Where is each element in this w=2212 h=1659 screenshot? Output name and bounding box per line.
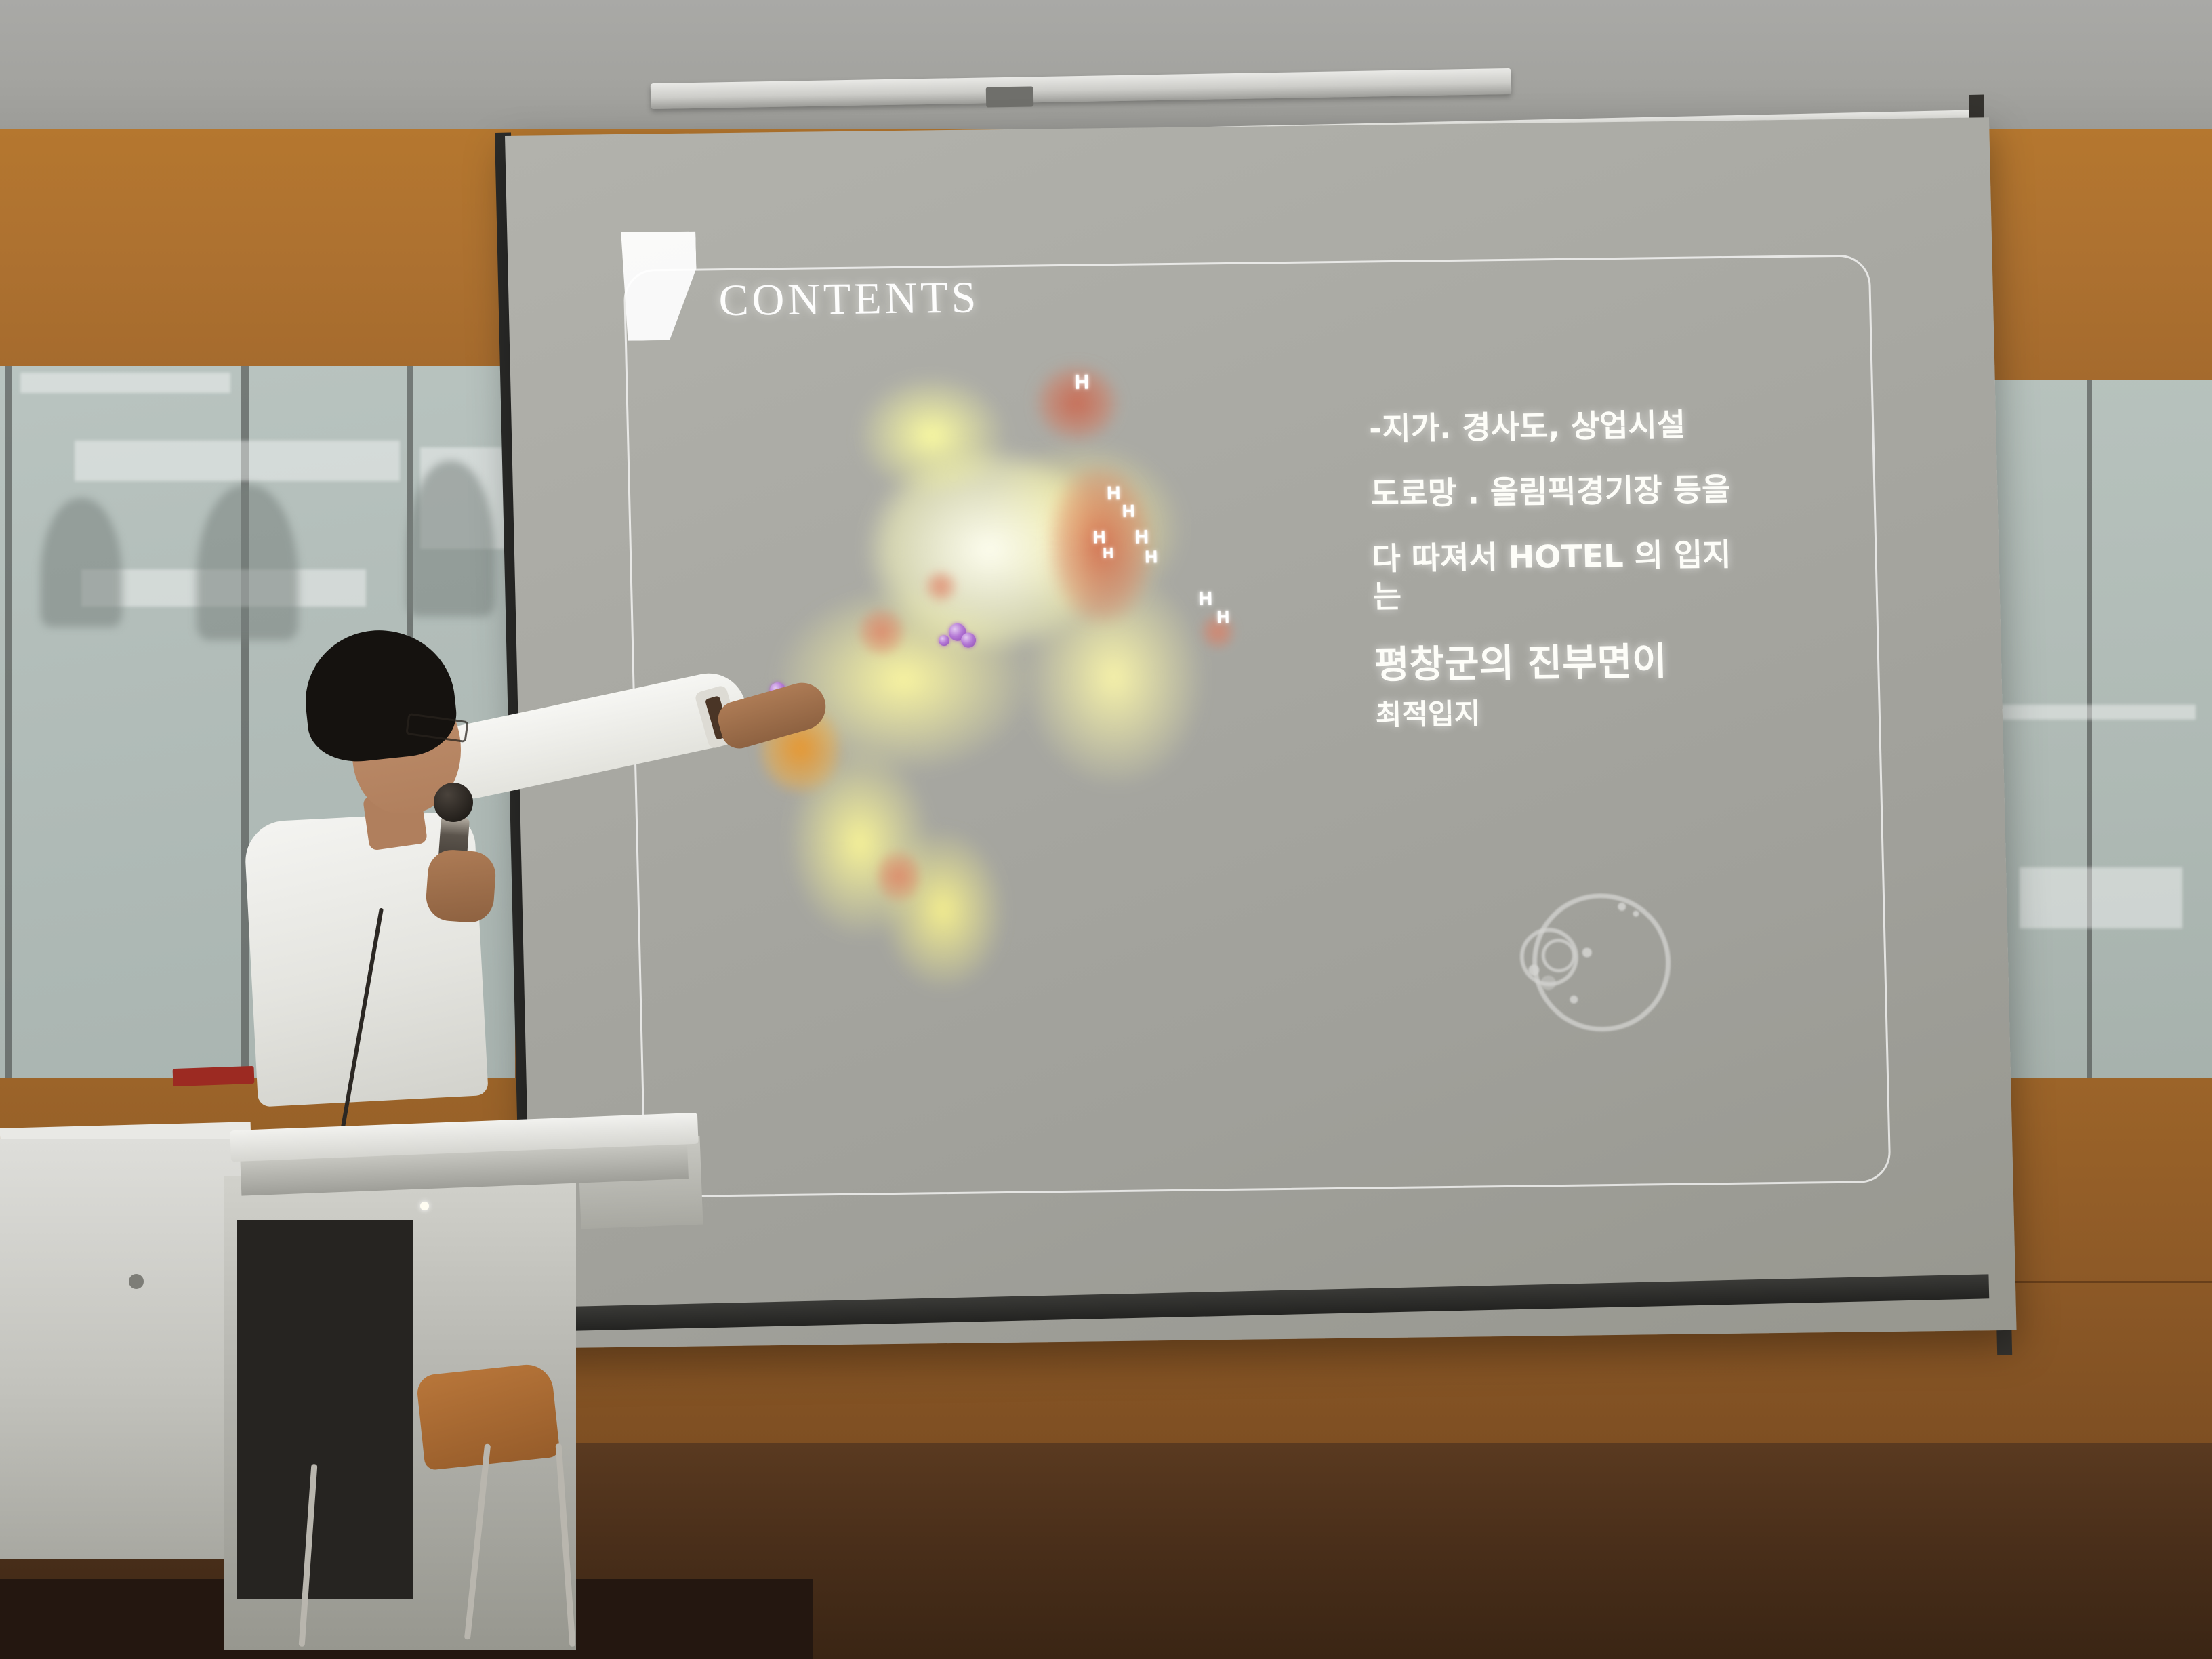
- site-point-marker: [961, 633, 976, 648]
- hotel-marker-icon: H: [1198, 589, 1212, 608]
- bullet-line-4-main: 평창군의 진부면이: [1374, 640, 1667, 688]
- podium-red-marker: [173, 1066, 255, 1086]
- audience-silhouette: [41, 498, 122, 627]
- audience-silhouette: [197, 485, 298, 640]
- glass-reflection: [20, 373, 230, 393]
- site-point-marker: [939, 635, 949, 646]
- screen-bracket: [986, 86, 1034, 107]
- counter-knob: [129, 1274, 144, 1289]
- bubble-dot: [1618, 903, 1626, 911]
- presenter-mic-hand: [424, 848, 497, 924]
- mullion: [2087, 380, 2092, 1098]
- glass-reflection: [2020, 867, 2182, 928]
- bubble-dot: [1633, 911, 1639, 917]
- hotel-marker-icon: H: [1145, 548, 1158, 565]
- mullion: [5, 366, 12, 1091]
- bubble-dot: [1528, 964, 1539, 975]
- bullet-line-1: -지가. 경사도, 상업시설: [1369, 405, 1749, 448]
- side-counter: [0, 1139, 244, 1559]
- hotel-marker-icon: H: [1092, 528, 1105, 546]
- microphone-head: [434, 783, 473, 822]
- glass-reflection: [1992, 705, 2196, 720]
- hotel-marker-icon: H: [1107, 484, 1121, 503]
- hotel-marker-icon: H: [1122, 502, 1135, 520]
- hotel-marker-icon: H: [1103, 546, 1113, 560]
- bullet-line-3: 다 따져서 HOTEL 의 입지는: [1372, 535, 1753, 616]
- glass-reflection: [75, 441, 400, 481]
- bubble-dot: [1570, 996, 1578, 1004]
- bullet-line-4: 평창군의 진부면이 최적입지: [1374, 638, 1755, 735]
- page-title: CONTENTS: [718, 272, 980, 327]
- slide-bullet-list: -지가. 경사도, 상업시설 도로망 . 올림픽경기장 등을 다 따져서 HOT…: [1369, 405, 1757, 763]
- lectern-front-panel: [237, 1220, 413, 1599]
- bubble-watermark: [1519, 887, 1678, 1031]
- hotel-marker-icon: H: [1216, 608, 1229, 626]
- bubble-dot: [1541, 975, 1556, 990]
- hotel-marker-icon: H: [1074, 372, 1089, 392]
- bullet-line-2: 도로망 . 올림픽경기장 등을: [1370, 470, 1750, 513]
- bullet-line-4-sub: 최적입지: [1375, 697, 1481, 731]
- bubble-dot: [1582, 947, 1592, 957]
- hotel-marker-icon: H: [1134, 527, 1149, 546]
- power-indicator-led: [420, 1202, 429, 1210]
- screenshot-root: CONTENTS H H H: [0, 0, 2212, 1659]
